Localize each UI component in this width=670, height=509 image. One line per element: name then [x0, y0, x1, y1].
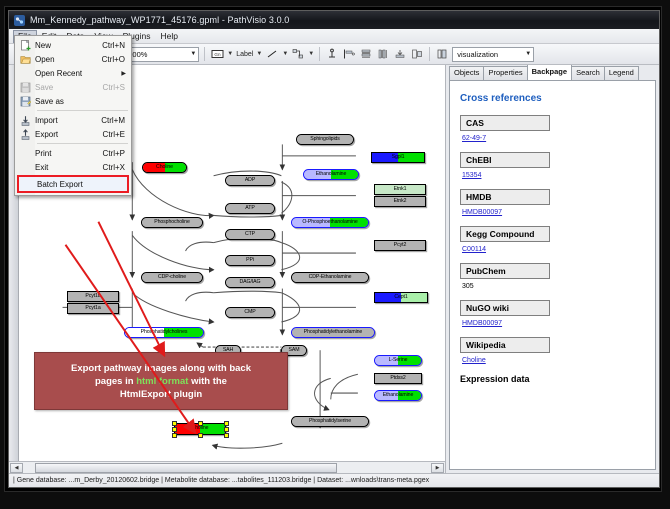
pathway-node-ophosphoet[interactable]: O-Phosphoethanolamine — [291, 217, 369, 228]
toolbar-separator — [319, 47, 320, 61]
db-value-wikipedia[interactable]: Choline — [462, 357, 645, 364]
file-menu-dropdown[interactable]: New Ctrl+N Open Ctrl+O Open Recent ▶ Sav… — [14, 35, 132, 196]
visualization-icon[interactable] — [435, 47, 449, 61]
save-disk-icon — [18, 81, 32, 93]
pathway-node-ptdcholine[interactable]: Phosphatidylcholines — [124, 327, 204, 338]
pathway-node-atp[interactable]: ATP — [225, 203, 275, 214]
pathway-node-sgpl1[interactable]: Sgpl1 — [371, 152, 425, 163]
db-header-chebi: ChEBI — [460, 152, 550, 168]
menu-label: Save — [35, 83, 103, 92]
node-label: CMP — [244, 310, 255, 315]
selection-handle[interactable] — [172, 433, 177, 438]
toolbar-separator — [204, 47, 205, 61]
menu-item-import[interactable]: Import Ctrl+M — [15, 113, 131, 127]
db-header-wikipedia: Wikipedia — [460, 337, 550, 353]
tab-objects[interactable]: Objects — [449, 66, 484, 80]
pathway-node-sphingo[interactable]: Sphingolipids — [296, 134, 354, 145]
node-label: CDP-choline — [158, 275, 186, 280]
pathway-node-pcyt2[interactable]: Pcyt2 — [374, 240, 426, 251]
pathway-node-lserine[interactable]: L-Serine — [374, 355, 422, 366]
db-value-kegg-compound[interactable]: C00114 — [462, 246, 645, 253]
group-icon[interactable] — [410, 47, 424, 61]
connector-dropdown-icon[interactable]: ▼ — [308, 51, 314, 57]
node-label: Choline — [156, 165, 173, 170]
pathway-node-ptdss2[interactable]: Ptdss2 — [374, 373, 422, 384]
callout-text: Export pathway images along with back pa… — [63, 362, 259, 401]
menu-label: Open Recent — [35, 69, 121, 78]
node-label: SAM — [289, 348, 300, 353]
pathway-node-etnk2[interactable]: Etnk2 — [374, 196, 426, 207]
cross-reference-list: CAS62-49-7ChEBI15354HMDBHMDB00097Kegg Co… — [460, 115, 645, 364]
node-label: Choline — [192, 426, 209, 431]
pathway-node-ptdserine[interactable]: Phosphatidylserine — [291, 416, 369, 427]
node-label: Ethanolamine — [316, 172, 347, 177]
zoom-combo[interactable]: 100% ▼ — [123, 47, 199, 62]
menu-item-save-as[interactable]: Save as — [15, 94, 131, 108]
node-label: Pcyt2 — [394, 243, 406, 248]
db-value-hmdb[interactable]: HMDB00097 — [462, 209, 645, 216]
pathway-node-choline1[interactable]: Choline — [142, 162, 187, 173]
tab-properties[interactable]: Properties — [483, 66, 527, 80]
callout-line-2a: pages in — [95, 376, 136, 387]
visualization-combo[interactable]: visualization ▼ — [452, 47, 534, 62]
side-panel-tabs[interactable]: Objects Properties Backpage Search Legen… — [446, 65, 659, 80]
menu-label: Print — [35, 149, 103, 158]
scroll-thumb[interactable] — [35, 463, 337, 473]
pathway-node-cept1[interactable]: Cept1 — [374, 292, 428, 303]
screenshot-frame: Mm_Kennedy_pathway_WP1771_45176.gpml - P… — [0, 0, 670, 509]
node-label: DAG/IAG — [240, 280, 261, 285]
anchor-icon[interactable] — [325, 47, 339, 61]
pathvisio-icon — [14, 15, 25, 26]
align-left-icon[interactable] — [342, 47, 356, 61]
menu-separator — [37, 143, 128, 144]
node-label: PPi — [246, 258, 254, 263]
backpage-content[interactable]: Cross references CAS62-49-7ChEBI15354HMD… — [449, 80, 656, 470]
node-label: L-Serine — [389, 358, 408, 363]
db-header-hmdb: HMDB — [460, 189, 550, 205]
db-header-nugo-wiki: NuGO wiki — [460, 300, 550, 316]
node-label: Phosphocholine — [154, 220, 190, 225]
callout-highlight: html format — [136, 376, 188, 387]
pathway-node-adp[interactable]: ADP — [225, 175, 275, 186]
label-tool-label[interactable]: Label — [236, 51, 253, 58]
pathway-node-pcyt1a[interactable]: Pcyt1a — [67, 303, 119, 314]
pathway-node-phosphocho[interactable]: Phosphocholine — [141, 217, 203, 228]
tab-backpage[interactable]: Backpage — [527, 64, 572, 80]
menu-help[interactable]: Help — [156, 30, 183, 43]
menu-item-print[interactable]: Print Ctrl+P — [15, 146, 131, 160]
menu-accel: Ctrl+X — [103, 163, 131, 172]
pathway-node-ptdetn[interactable]: Phosphatidylethanolamine — [291, 327, 375, 338]
connector-icon[interactable] — [291, 47, 305, 61]
node-label: Etnk2 — [394, 199, 407, 204]
db-value-nugo-wiki[interactable]: HMDB00097 — [462, 320, 645, 327]
menu-accel: Ctrl+M — [101, 116, 131, 125]
menu-accel: Ctrl+P — [103, 149, 131, 158]
scroll-right-arrow[interactable]: ▶ — [431, 463, 444, 473]
node-label: Sgpl1 — [392, 155, 405, 160]
scroll-left-arrow[interactable]: ◀ — [10, 463, 23, 473]
menu-label: Open — [35, 55, 102, 64]
stack-icon[interactable] — [393, 47, 407, 61]
pathway-node-cmp[interactable]: CMP — [225, 307, 275, 318]
selection-handle[interactable] — [172, 421, 177, 426]
db-value-cas[interactable]: 62-49-7 — [462, 135, 645, 142]
selection-handle[interactable] — [172, 427, 177, 432]
node-label: CDP-Ethanolamine — [309, 275, 352, 280]
callout-line-2b: with the — [188, 376, 227, 387]
menu-item-exit[interactable]: Exit Ctrl+X — [15, 160, 131, 174]
menu-item-open[interactable]: Open Ctrl+O — [15, 52, 131, 66]
pathway-node-ppi[interactable]: PPi — [225, 255, 275, 266]
node-label: ADP — [245, 178, 255, 183]
menu-label: Exit — [35, 163, 103, 172]
selection-handle[interactable] — [224, 427, 229, 432]
tab-legend[interactable]: Legend — [604, 66, 639, 80]
menu-item-new[interactable]: New Ctrl+N — [15, 38, 131, 52]
align-columns-icon[interactable] — [376, 47, 390, 61]
db-header-cas: CAS — [460, 115, 550, 131]
pathway-node-etnlamine2[interactable]: Ethanolamine — [374, 390, 422, 401]
menu-accel: Ctrl+E — [103, 130, 131, 139]
node-label: Sphingolipids — [310, 137, 340, 142]
pathway-node-cdpcholine[interactable]: CDP-choline — [141, 272, 203, 283]
db-header-pubchem: PubChem — [460, 263, 550, 279]
menu-separator — [37, 110, 128, 111]
callout-box: Export pathway images along with back pa… — [34, 352, 288, 410]
pathvisio-window: Mm_Kennedy_pathway_WP1771_45176.gpml - P… — [8, 10, 660, 488]
menu-label: Import — [35, 116, 101, 125]
side-panel: Objects Properties Backpage Search Legen… — [445, 65, 659, 473]
node-label: O-Phosphoethanolamine — [302, 220, 357, 225]
svg-text:Gn: Gn — [214, 52, 221, 57]
export-icon — [18, 128, 32, 140]
pathway-node-dagiag[interactable]: DAG/IAG — [225, 277, 275, 288]
submenu-arrow-icon: ▶ — [121, 70, 131, 77]
line-icon[interactable] — [265, 47, 279, 61]
node-label: Ethanolamine — [383, 393, 414, 398]
status-text: | Gene database: ...m_Derby_20120602.bri… — [13, 477, 429, 484]
db-value-pubchem: 305 — [462, 283, 645, 290]
node-label: Phosphatidylserine — [309, 419, 351, 424]
pathway-node-ctp[interactable]: CTP — [225, 229, 275, 240]
selection-handle[interactable] — [224, 433, 229, 438]
toolbar-separator — [429, 47, 430, 61]
horizontal-scrollbar[interactable]: ◀ ▶ — [9, 461, 445, 473]
pathway-node-pcyt1b[interactable]: Pcyt1b — [67, 291, 119, 302]
node-label: Cept1 — [394, 295, 407, 300]
expression-data-heading: Expression data — [460, 374, 645, 384]
datanode-icon[interactable]: Gn — [210, 47, 224, 61]
pathway-node-etnk1[interactable]: Etnk1 — [374, 184, 426, 195]
node-label: ATP — [245, 206, 254, 211]
node-label: Pcyt1a — [85, 306, 100, 311]
status-bar: | Gene database: ...m_Derby_20120602.bri… — [9, 473, 659, 487]
title-bar: Mm_Kennedy_pathway_WP1771_45176.gpml - P… — [9, 11, 659, 29]
menu-item-export[interactable]: Export Ctrl+E — [15, 127, 131, 141]
datanode-dropdown-icon[interactable]: ▼ — [227, 51, 233, 57]
save-as-icon — [18, 95, 32, 107]
db-value-chebi[interactable]: 15354 — [462, 172, 645, 179]
menu-accel: Ctrl+O — [102, 55, 131, 64]
label-dropdown-icon[interactable]: ▼ — [256, 51, 262, 57]
menu-item-save: Save Ctrl+S — [15, 80, 131, 94]
chevron-down-icon: ▼ — [525, 51, 531, 57]
node-label: Etnk1 — [394, 187, 407, 192]
menu-item-open-recent[interactable]: Open Recent ▶ — [15, 66, 131, 80]
menu-label: Export — [35, 130, 103, 139]
visualization-value: visualization — [457, 50, 498, 59]
menu-label: New — [35, 41, 102, 50]
align-rows-icon[interactable] — [359, 47, 373, 61]
callout-line-1: Export pathway images along with back — [71, 363, 251, 374]
node-label: Pcyt1b — [85, 294, 100, 299]
tab-search[interactable]: Search — [571, 66, 605, 80]
callout-line-3: HtmlExport plugin — [120, 389, 202, 400]
menu-accel: Ctrl+S — [103, 83, 131, 92]
line-dropdown-icon[interactable]: ▼ — [282, 51, 288, 57]
import-icon — [18, 114, 32, 126]
new-document-icon — [18, 39, 32, 51]
pathway-node-cdpetn[interactable]: CDP-Ethanolamine — [291, 272, 369, 283]
menu-accel: Ctrl+N — [102, 41, 131, 50]
node-label: Phosphatidylethanolamine — [304, 330, 362, 335]
selection-handle[interactable] — [198, 433, 203, 438]
pathway-node-etnlamine[interactable]: Ethanolamine — [303, 169, 359, 180]
db-header-kegg-compound: Kegg Compound — [460, 226, 550, 242]
selection-handle[interactable] — [224, 421, 229, 426]
chevron-down-icon: ▼ — [190, 51, 196, 57]
menu-item-batch-export[interactable]: Batch Export — [17, 175, 129, 193]
window-title: Mm_Kennedy_pathway_WP1771_45176.gpml - P… — [30, 15, 289, 25]
open-folder-icon — [18, 53, 32, 65]
node-label: Ptdss2 — [390, 376, 405, 381]
cross-references-heading: Cross references — [460, 93, 645, 104]
node-label: Phosphatidylcholines — [141, 330, 188, 335]
menu-label: Save as — [35, 97, 125, 106]
node-label: CTP — [245, 232, 255, 237]
menu-label: Batch Export — [37, 180, 83, 189]
